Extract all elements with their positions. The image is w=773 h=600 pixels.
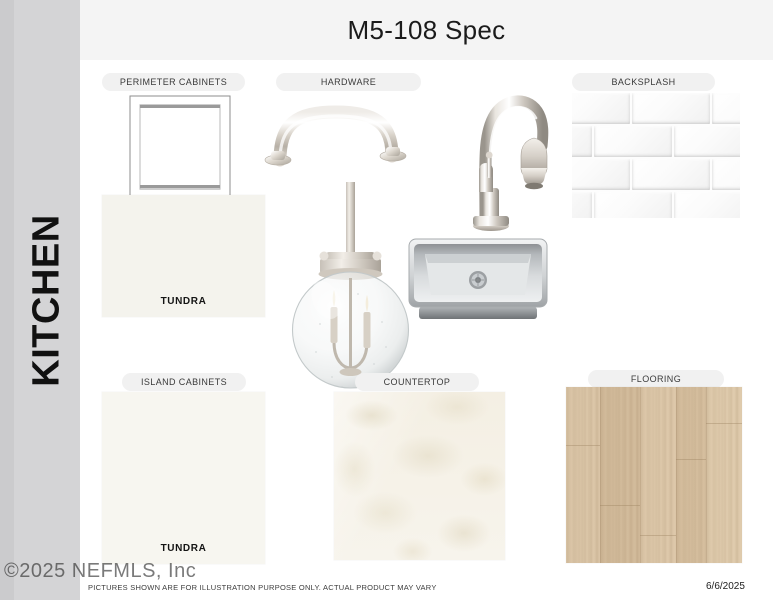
caption-backsplash: BACKSPLASH xyxy=(572,73,715,91)
swatch-island-cabinets: TUNDRA xyxy=(102,392,265,564)
footer-date: 6/6/2025 xyxy=(706,581,745,592)
swatch-backsplash xyxy=(572,93,740,218)
swatch-perimeter-cabinets: TUNDRA xyxy=(102,195,265,317)
kitchen-faucet-fixture xyxy=(446,70,566,240)
swatch-flooring xyxy=(566,387,742,563)
footer-disclaimer: PICTURES SHOWN ARE FOR ILLUSTRATION PURP… xyxy=(88,583,437,592)
spec-sheet-page: KITCHEN M5-108 Spec PERIMETER CABINETS H… xyxy=(0,0,773,600)
room-label: KITCHEN xyxy=(14,0,80,600)
cabinet-pull-hardware xyxy=(256,90,416,170)
swatch-name-island: TUNDRA xyxy=(102,543,265,554)
spec-board: PERIMETER CABINETS HARDWARE BACKSPLASH T… xyxy=(80,60,773,600)
caption-island-cabinets: ISLAND CABINETS xyxy=(122,373,246,391)
caption-hardware: HARDWARE xyxy=(276,73,421,91)
page-title: M5-108 Spec xyxy=(80,0,773,60)
caption-countertop: COUNTERTOP xyxy=(355,373,479,391)
page-header: M5-108 Spec xyxy=(80,0,773,61)
cabinet-door-drawing xyxy=(102,93,258,201)
caption-perimeter-cabinets: PERIMETER CABINETS xyxy=(102,73,245,91)
stainless-sink-fixture xyxy=(405,233,551,325)
swatch-name-perimeter: TUNDRA xyxy=(102,296,265,307)
caption-flooring: FLOORING xyxy=(588,370,724,388)
swatch-countertop xyxy=(334,392,505,560)
sidebar-edge-strip xyxy=(0,0,14,600)
room-sidebar: KITCHEN xyxy=(0,0,80,600)
room-label-text: KITCHEN xyxy=(26,214,69,386)
